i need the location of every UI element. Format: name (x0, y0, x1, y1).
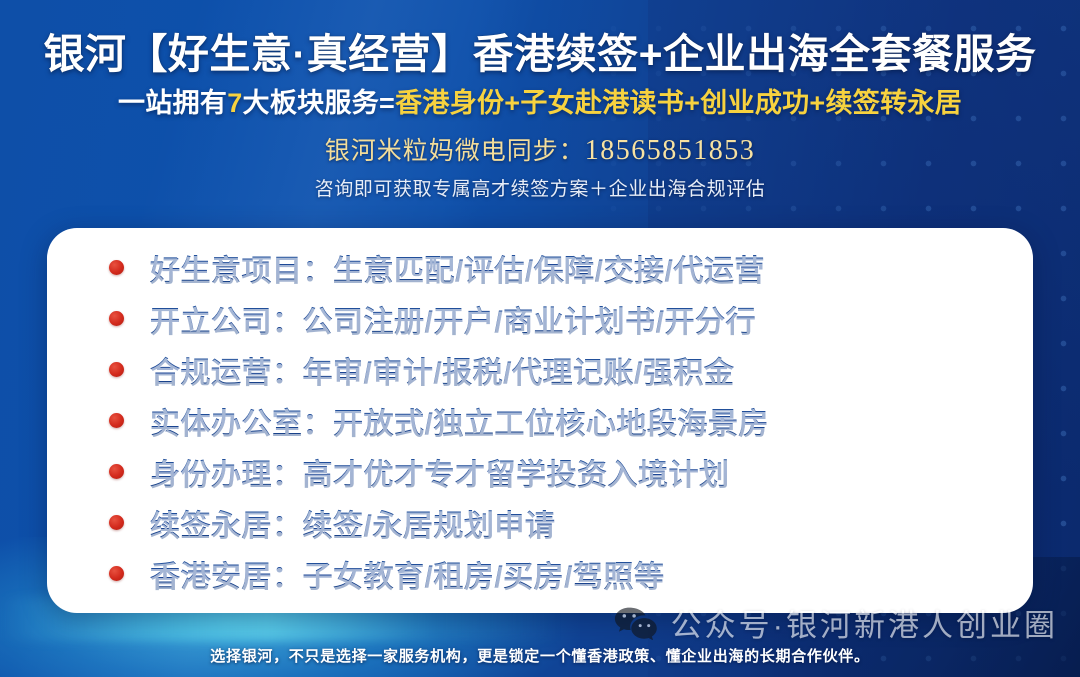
service-text: 续签永居：续签/永居规划申请 (150, 501, 555, 545)
service-text: 合规运营：年审/审计/报税/代理记账/强积金 (150, 348, 734, 392)
footer-note: 选择银河，不只是选择一家服务机构，更是锁定一个懂香港政策、懂企业出海的长期合作伙… (0, 645, 1080, 666)
contact-line: 银河米粒妈微电同步：18565851853 (0, 131, 1080, 167)
services-list: 好生意项目：生意匹配/评估/保障/交接/代运营 开立公司：公司注册/开户/商业计… (47, 242, 1033, 599)
contact-phone: 18565851853 (585, 135, 756, 166)
list-item: 续签永居：续签/永居规划申请 (47, 497, 1033, 548)
promotional-banner: 银河【好生意·真经营】香港续签+企业出海全套餐服务 一站拥有7大板块服务=香港身… (0, 0, 1080, 677)
subtitle-highlight-number: 7 (227, 88, 242, 118)
subtitle-prefix: 一站拥有 (118, 88, 227, 118)
bullet-icon (109, 566, 124, 581)
banner-title: 银河【好生意·真经营】香港续签+企业出海全套餐服务 (0, 30, 1080, 78)
service-text: 身份办理：高才优才专才留学投资入境计划 (150, 450, 730, 494)
bullet-icon (109, 413, 124, 428)
service-text: 香港安居：子女教育/租房/买房/驾照等 (150, 552, 665, 596)
service-text: 实体办公室：开放式/独立工位核心地段海景房 (150, 399, 769, 443)
list-item: 身份办理：高才优才专才留学投资入境计划 (47, 446, 1033, 497)
banner-tagline: 咨询即可获取专属高才续签方案＋企业出海合规评估 (0, 174, 1080, 201)
subtitle-middle: 大板块服务= (243, 88, 396, 118)
list-item: 开立公司：公司注册/开户/商业计划书/开分行 (47, 293, 1033, 344)
bullet-icon (109, 260, 124, 275)
services-card: 好生意项目：生意匹配/评估/保障/交接/代运营 开立公司：公司注册/开户/商业计… (47, 228, 1033, 613)
list-item: 香港安居：子女教育/租房/买房/驾照等 (47, 548, 1033, 599)
banner-header: 银河【好生意·真经营】香港续签+企业出海全套餐服务 一站拥有7大板块服务=香港身… (0, 0, 1080, 201)
list-item: 好生意项目：生意匹配/评估/保障/交接/代运营 (47, 242, 1033, 293)
service-text: 开立公司：公司注册/开户/商业计划书/开分行 (150, 297, 756, 341)
bullet-icon (109, 311, 124, 326)
service-text: 好生意项目：生意匹配/评估/保障/交接/代运营 (150, 246, 765, 290)
contact-label: 银河米粒妈微电同步： (325, 138, 585, 165)
bullet-icon (109, 362, 124, 377)
list-item: 实体办公室：开放式/独立工位核心地段海景房 (47, 395, 1033, 446)
list-item: 合规运营：年审/审计/报税/代理记账/强积金 (47, 344, 1033, 395)
subtitle-highlight-tail: 香港身份+子女赴港读书+创业成功+续签转永居 (395, 88, 962, 118)
bullet-icon (109, 515, 124, 530)
banner-subtitle: 一站拥有7大板块服务=香港身份+子女赴港读书+创业成功+续签转永居 (0, 87, 1080, 119)
bullet-icon (109, 464, 124, 479)
